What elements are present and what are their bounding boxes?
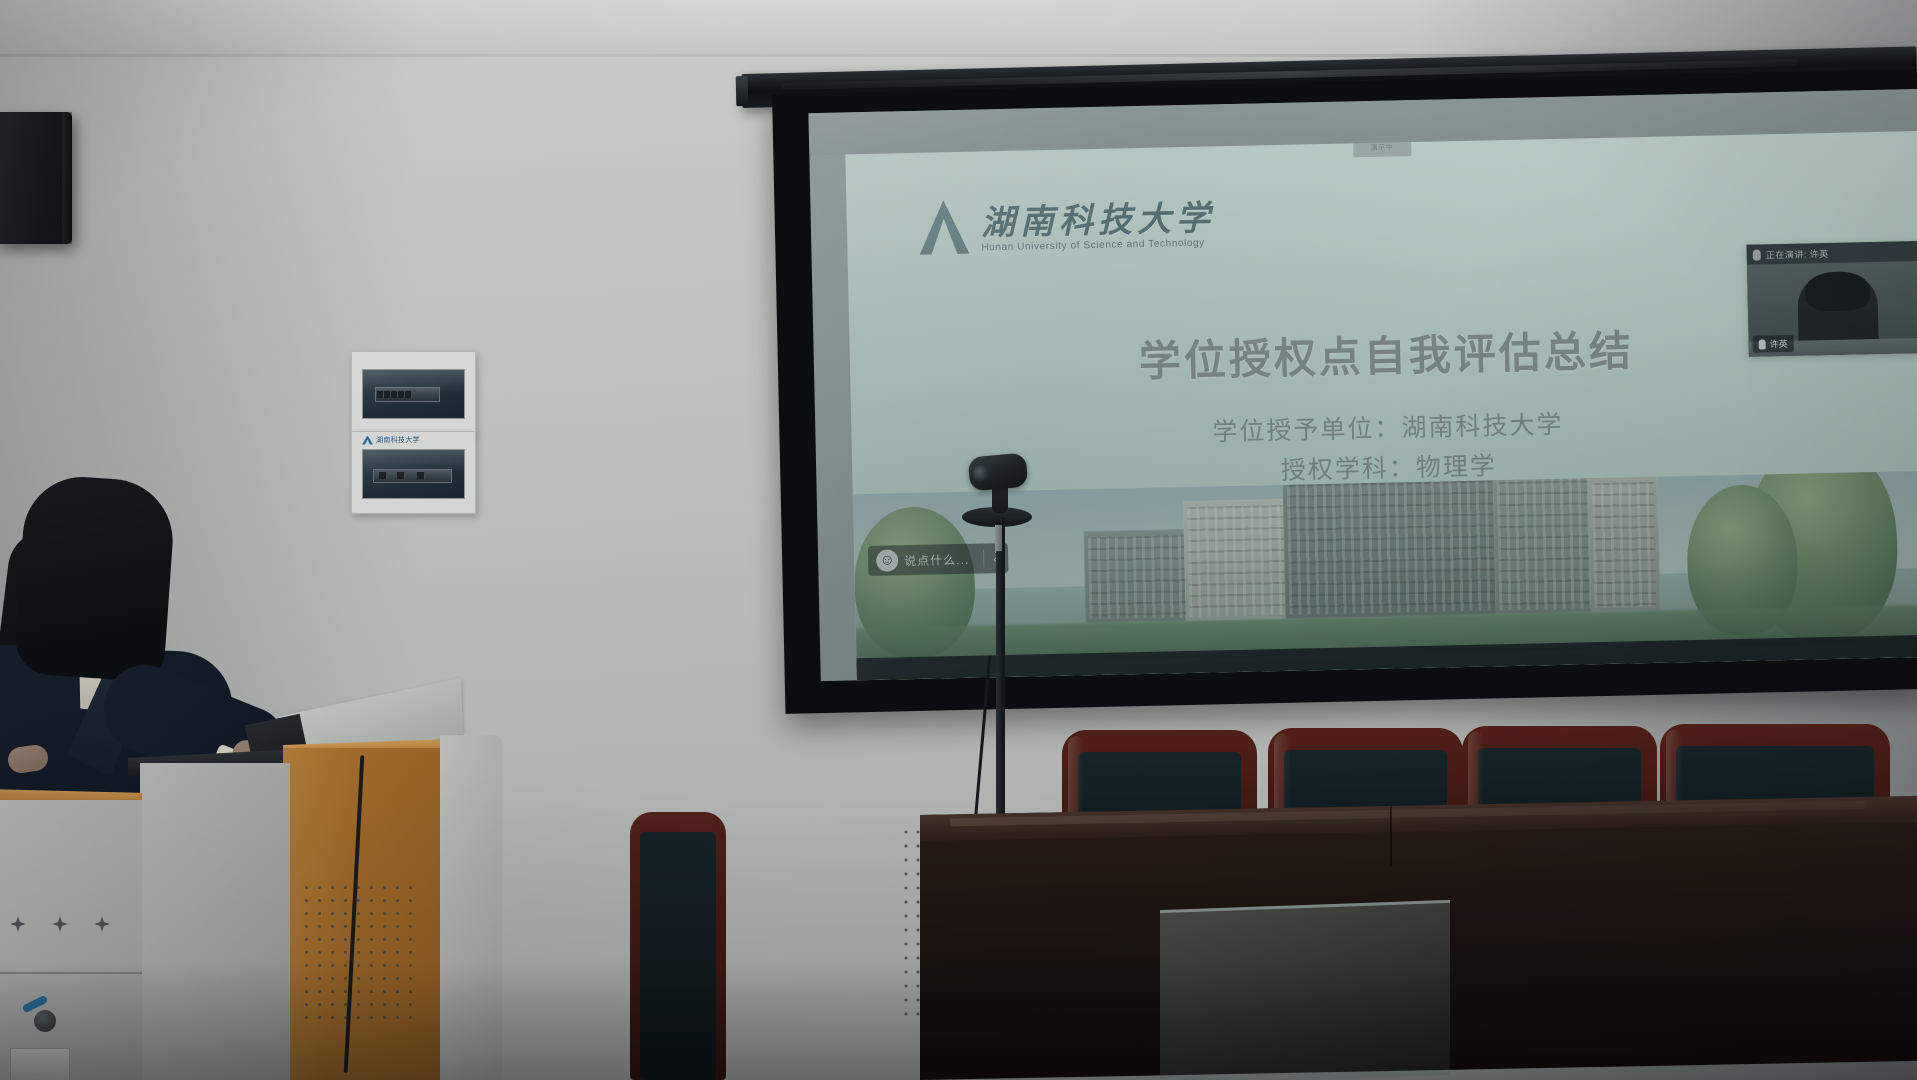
- podium-door-seam: [0, 972, 142, 974]
- video-feed[interactable]: 许英: [1747, 261, 1917, 357]
- video-participant-hair: [1805, 271, 1871, 311]
- screenshot-scene: 湖南科技大学 演示中: [0, 0, 1917, 1080]
- conference-chair-foreground: [630, 812, 726, 1080]
- speaker-grille: [62, 112, 72, 244]
- podium-center-panel: [140, 763, 290, 1080]
- microphone-icon: [1753, 249, 1761, 260]
- projection-screen: 演示中 湖南科技大学 Hunan University of Science a…: [772, 69, 1917, 714]
- podium-side-right: [440, 735, 502, 1080]
- camera-cable: [1002, 517, 1005, 817]
- electrical-breaker-panel-lower[interactable]: 湖南科技大学: [351, 431, 476, 514]
- video-conference-panel[interactable]: 正在演讲: 许英 许英: [1747, 241, 1917, 357]
- panel-glass-glare: [363, 370, 464, 392]
- podium-diamond-decor: [10, 916, 130, 936]
- mountain-chevron-logo-icon: [896, 198, 969, 256]
- camera-head: [968, 453, 1029, 492]
- podium-device-plate: [10, 1048, 70, 1080]
- smiley-face-icon[interactable]: ☺: [876, 549, 898, 571]
- university-name-cn: 湖南科技大学: [981, 201, 1216, 240]
- panel-logo-text: 湖南科技大学: [376, 435, 420, 445]
- campus-building: [1588, 476, 1661, 612]
- panel-glass-glare: [363, 450, 464, 472]
- panel-university-logo-icon: 湖南科技大学: [362, 435, 420, 445]
- active-speaker-label: 正在演讲: 许英: [1766, 246, 1829, 260]
- podium-vent-holes: [300, 881, 422, 1021]
- panel-logo-mark-icon: [362, 436, 373, 445]
- breaker-window-lower: [362, 449, 465, 499]
- presenter-hair: [13, 473, 177, 683]
- cabinet-lock-icon[interactable]: [34, 1010, 56, 1032]
- table-seam: [1390, 806, 1392, 866]
- university-logo: 湖南科技大学 Hunan University of Science and T…: [896, 192, 1215, 255]
- wall-speaker-icon: [0, 112, 72, 244]
- camera-lens-icon: [972, 463, 991, 484]
- breaker-window-upper: [362, 369, 465, 419]
- university-logo-text: 湖南科技大学 Hunan University of Science and T…: [981, 201, 1216, 253]
- campus-building: [1283, 474, 1516, 619]
- podium: [0, 725, 502, 1080]
- electrical-breaker-panel-upper[interactable]: [351, 351, 476, 434]
- video-name-badge: 许英: [1753, 335, 1794, 353]
- housing-end-cap: [736, 76, 749, 106]
- podium-left-cabinet[interactable]: [0, 800, 142, 1080]
- campus-building: [1183, 499, 1296, 621]
- participant-name: 许英: [1770, 337, 1788, 350]
- microphone-icon: [1759, 339, 1766, 349]
- table-glass-top: [1160, 900, 1450, 1080]
